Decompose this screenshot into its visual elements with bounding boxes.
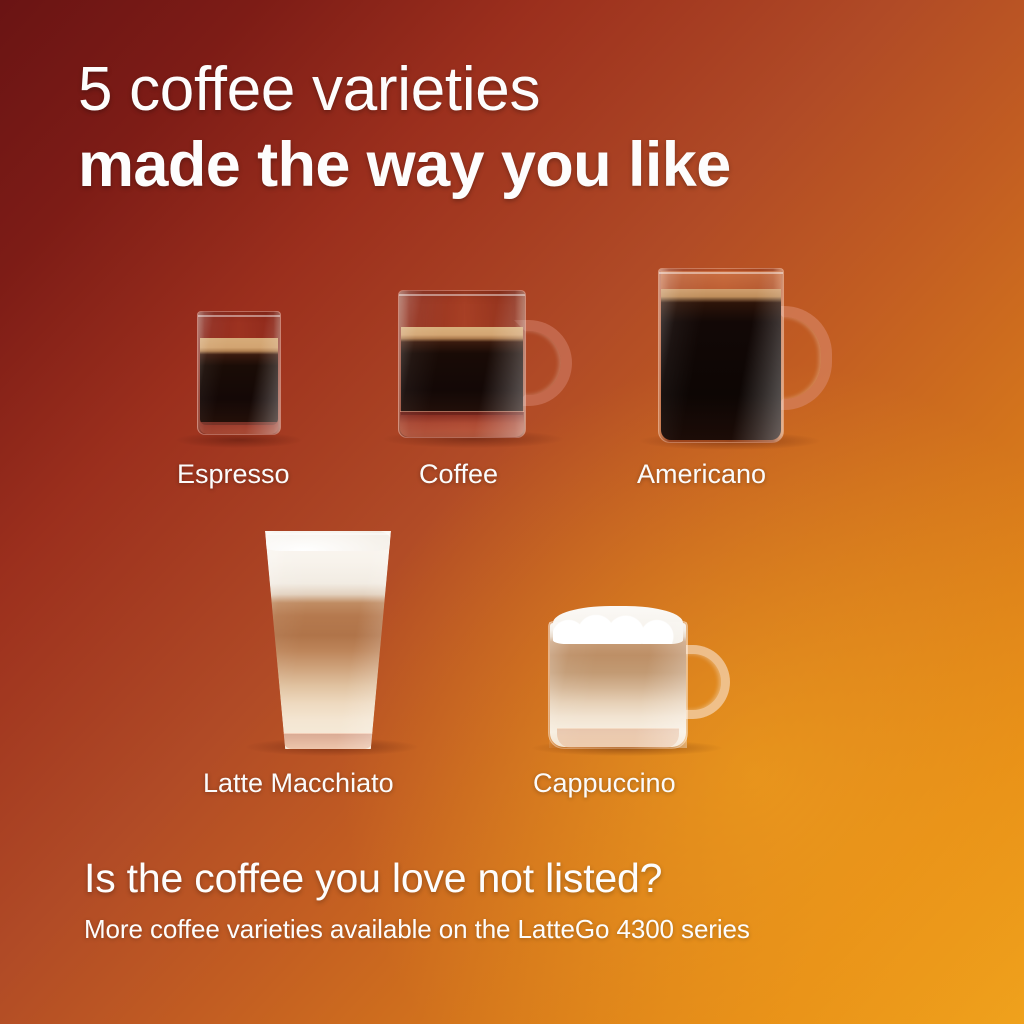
espresso-glass-icon — [197, 311, 281, 435]
footer-question: Is the coffee you love not listed? — [84, 855, 964, 902]
latte-macchiato-glass-icon — [265, 531, 391, 749]
drink-label-coffee: Coffee — [419, 459, 498, 490]
page-title: 5 coffee varieties made the way you like — [78, 58, 958, 197]
poster-canvas: 5 coffee varieties made the way you like… — [0, 0, 1024, 1024]
footer-copy: Is the coffee you love not listed? More … — [84, 855, 964, 945]
coffee-mug-icon — [398, 290, 526, 438]
drink-label-cappuccino: Cappuccino — [533, 768, 676, 799]
footer-subtext: More coffee varieties available on the L… — [84, 914, 964, 945]
americano-mug-icon — [658, 268, 784, 443]
drink-label-americano: Americano — [637, 459, 766, 490]
headline-line-2: made the way you like — [78, 133, 958, 197]
drink-label-latte-macchiato: Latte Macchiato — [203, 768, 394, 799]
drink-label-espresso: Espresso — [177, 459, 290, 490]
cappuccino-cup-icon — [548, 621, 688, 749]
headline-line-1: 5 coffee varieties — [78, 58, 958, 121]
